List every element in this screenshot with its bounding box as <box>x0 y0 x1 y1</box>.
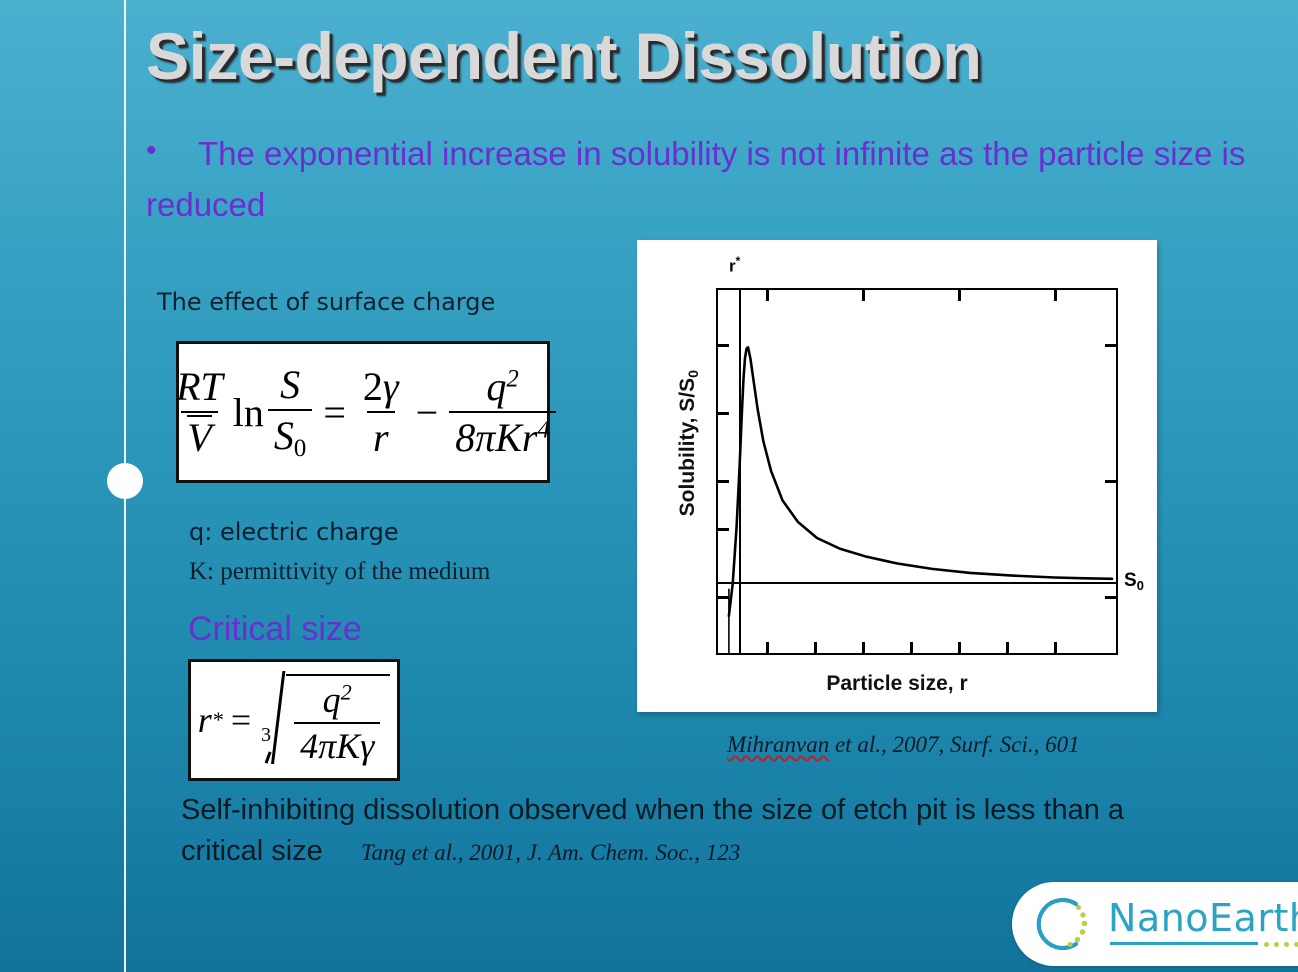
figure-citation: Mihranvan et al., 2007, Surf. Sci., 601 <box>727 732 1080 758</box>
logo-dot-2 <box>1080 912 1085 917</box>
eq2-lhs-star: * <box>212 707 223 733</box>
eq1-term2-denominator: 8πKr4 <box>449 411 556 461</box>
eq2-radicand-denominator: 4πKγ <box>294 722 380 767</box>
y-axis-label: Solubility, S/S0 <box>676 313 702 573</box>
r-star-annotation-label: r* <box>729 254 740 277</box>
eq1-arg-denominator: S0 <box>268 409 312 463</box>
x-axis-label: Particle size, r <box>637 672 1157 696</box>
definition-k: K: permittivity of the medium <box>189 558 490 586</box>
plot-frame <box>716 288 1118 655</box>
eq1-arg-numerator: S <box>274 361 306 409</box>
figure-citation-rest: et al., 2007, Surf. Sci., 601 <box>829 732 1079 757</box>
eq2-radicand-exponent: 2 <box>341 679 352 704</box>
equation-box-critical-size: r* = 3 q2 4πKγ <box>188 659 400 781</box>
eq2-radicand-fraction: q2 4πKγ <box>294 679 380 767</box>
eq1-lhs-denominator: V <box>181 411 217 461</box>
eq2-radicand: q2 4πKγ <box>286 674 390 767</box>
nanoearth-logo-text: NanoEarth <box>1108 896 1298 940</box>
eq1-term1-denominator: r <box>367 411 395 461</box>
slide-title: Size-dependent Dissolution <box>146 22 1146 91</box>
eq1-lhs-numerator: RT <box>170 363 229 411</box>
equation-surface-charge: RT V ln S S0 = 2γ r − q2 8πKr4 <box>166 361 560 463</box>
definition-q: q: electric charge <box>189 518 399 546</box>
logo-arc-icon <box>1039 900 1076 948</box>
eq2-lhs-r: r <box>198 699 212 741</box>
eq1-arg-denominator-subscript: 0 <box>294 435 306 462</box>
eq1-term2-denominator-expr: 8πKr <box>455 415 537 460</box>
left-accent-dot <box>107 463 143 499</box>
nanoearth-logo-mark <box>1030 892 1094 956</box>
eq1-term1-fraction: 2γ r <box>357 363 405 461</box>
eq2-radicand-q: q <box>323 680 341 720</box>
nanoearth-logo-trailing-dots <box>1264 942 1298 947</box>
bullet-text: The exponential increase in solubility i… <box>146 135 1245 223</box>
s0-annotation-label: S0 <box>1124 570 1144 593</box>
equation-box-surface-charge: RT V ln S S0 = 2γ r − q2 8πKr4 <box>176 341 550 483</box>
eq1-term1-coefficient: 2 <box>363 364 383 409</box>
eq1-arg-denominator-symbol: S <box>274 413 294 458</box>
equation-critical-size: r* = 3 q2 4πKγ <box>198 674 391 767</box>
eq1-minus-sign: − <box>416 389 439 436</box>
solubility-curve <box>718 290 1116 653</box>
slide-canvas: Size-dependent Dissolution •The exponent… <box>0 0 1298 972</box>
eq1-term1-gamma: γ <box>383 364 399 409</box>
bullet-marker: • <box>146 128 198 175</box>
eq1-term2-numerator: q2 <box>480 363 524 411</box>
figure-citation-author: Mihranvan <box>727 732 829 757</box>
nanoearth-logo-underline <box>1110 942 1258 945</box>
critical-size-heading: Critical size <box>188 610 362 649</box>
surface-charge-heading: The effect of surface charge <box>157 288 495 316</box>
eq2-root-index: 3 <box>261 724 271 747</box>
eq1-term2-fraction: q2 8πKr4 <box>449 363 556 461</box>
eq2-radicand-numerator: q2 <box>317 679 358 722</box>
solubility-figure-card: r* <box>637 240 1157 712</box>
eq1-term1-numerator: 2γ <box>357 363 405 411</box>
bullet-paragraph: •The exponential increase in solubility … <box>146 128 1256 231</box>
eq2-equals-sign: = <box>231 699 251 741</box>
eq1-term2-exponent: 2 <box>506 365 518 392</box>
bottom-statement: Self-inhibiting dissolution observed whe… <box>181 790 1181 872</box>
eq1-equals-sign: = <box>323 389 346 436</box>
eq1-log-argument-fraction: S S0 <box>268 361 312 463</box>
logo-dot-1 <box>1076 905 1081 910</box>
logo-dot-6 <box>1068 942 1073 947</box>
eq1-lhs-denominator-overbar: V <box>187 415 211 459</box>
nanoearth-logo: NanoEarth <box>1012 882 1298 966</box>
logo-dot-3 <box>1082 921 1088 927</box>
logo-dot-4 <box>1080 929 1086 935</box>
eq1-term2-denominator-exponent: 4 <box>538 416 550 443</box>
eq1-lhs-fraction: RT V <box>170 363 229 461</box>
eq2-radical-sign <box>264 674 286 767</box>
eq2-cube-root: 3 q2 4πKγ <box>261 674 390 767</box>
bottom-citation: Tang et al., 2001, J. Am. Chem. Soc., 12… <box>361 840 741 865</box>
eq1-term2-q: q <box>486 364 506 409</box>
eq1-ln-operator: ln <box>233 389 264 436</box>
logo-dot-5 <box>1075 937 1080 942</box>
